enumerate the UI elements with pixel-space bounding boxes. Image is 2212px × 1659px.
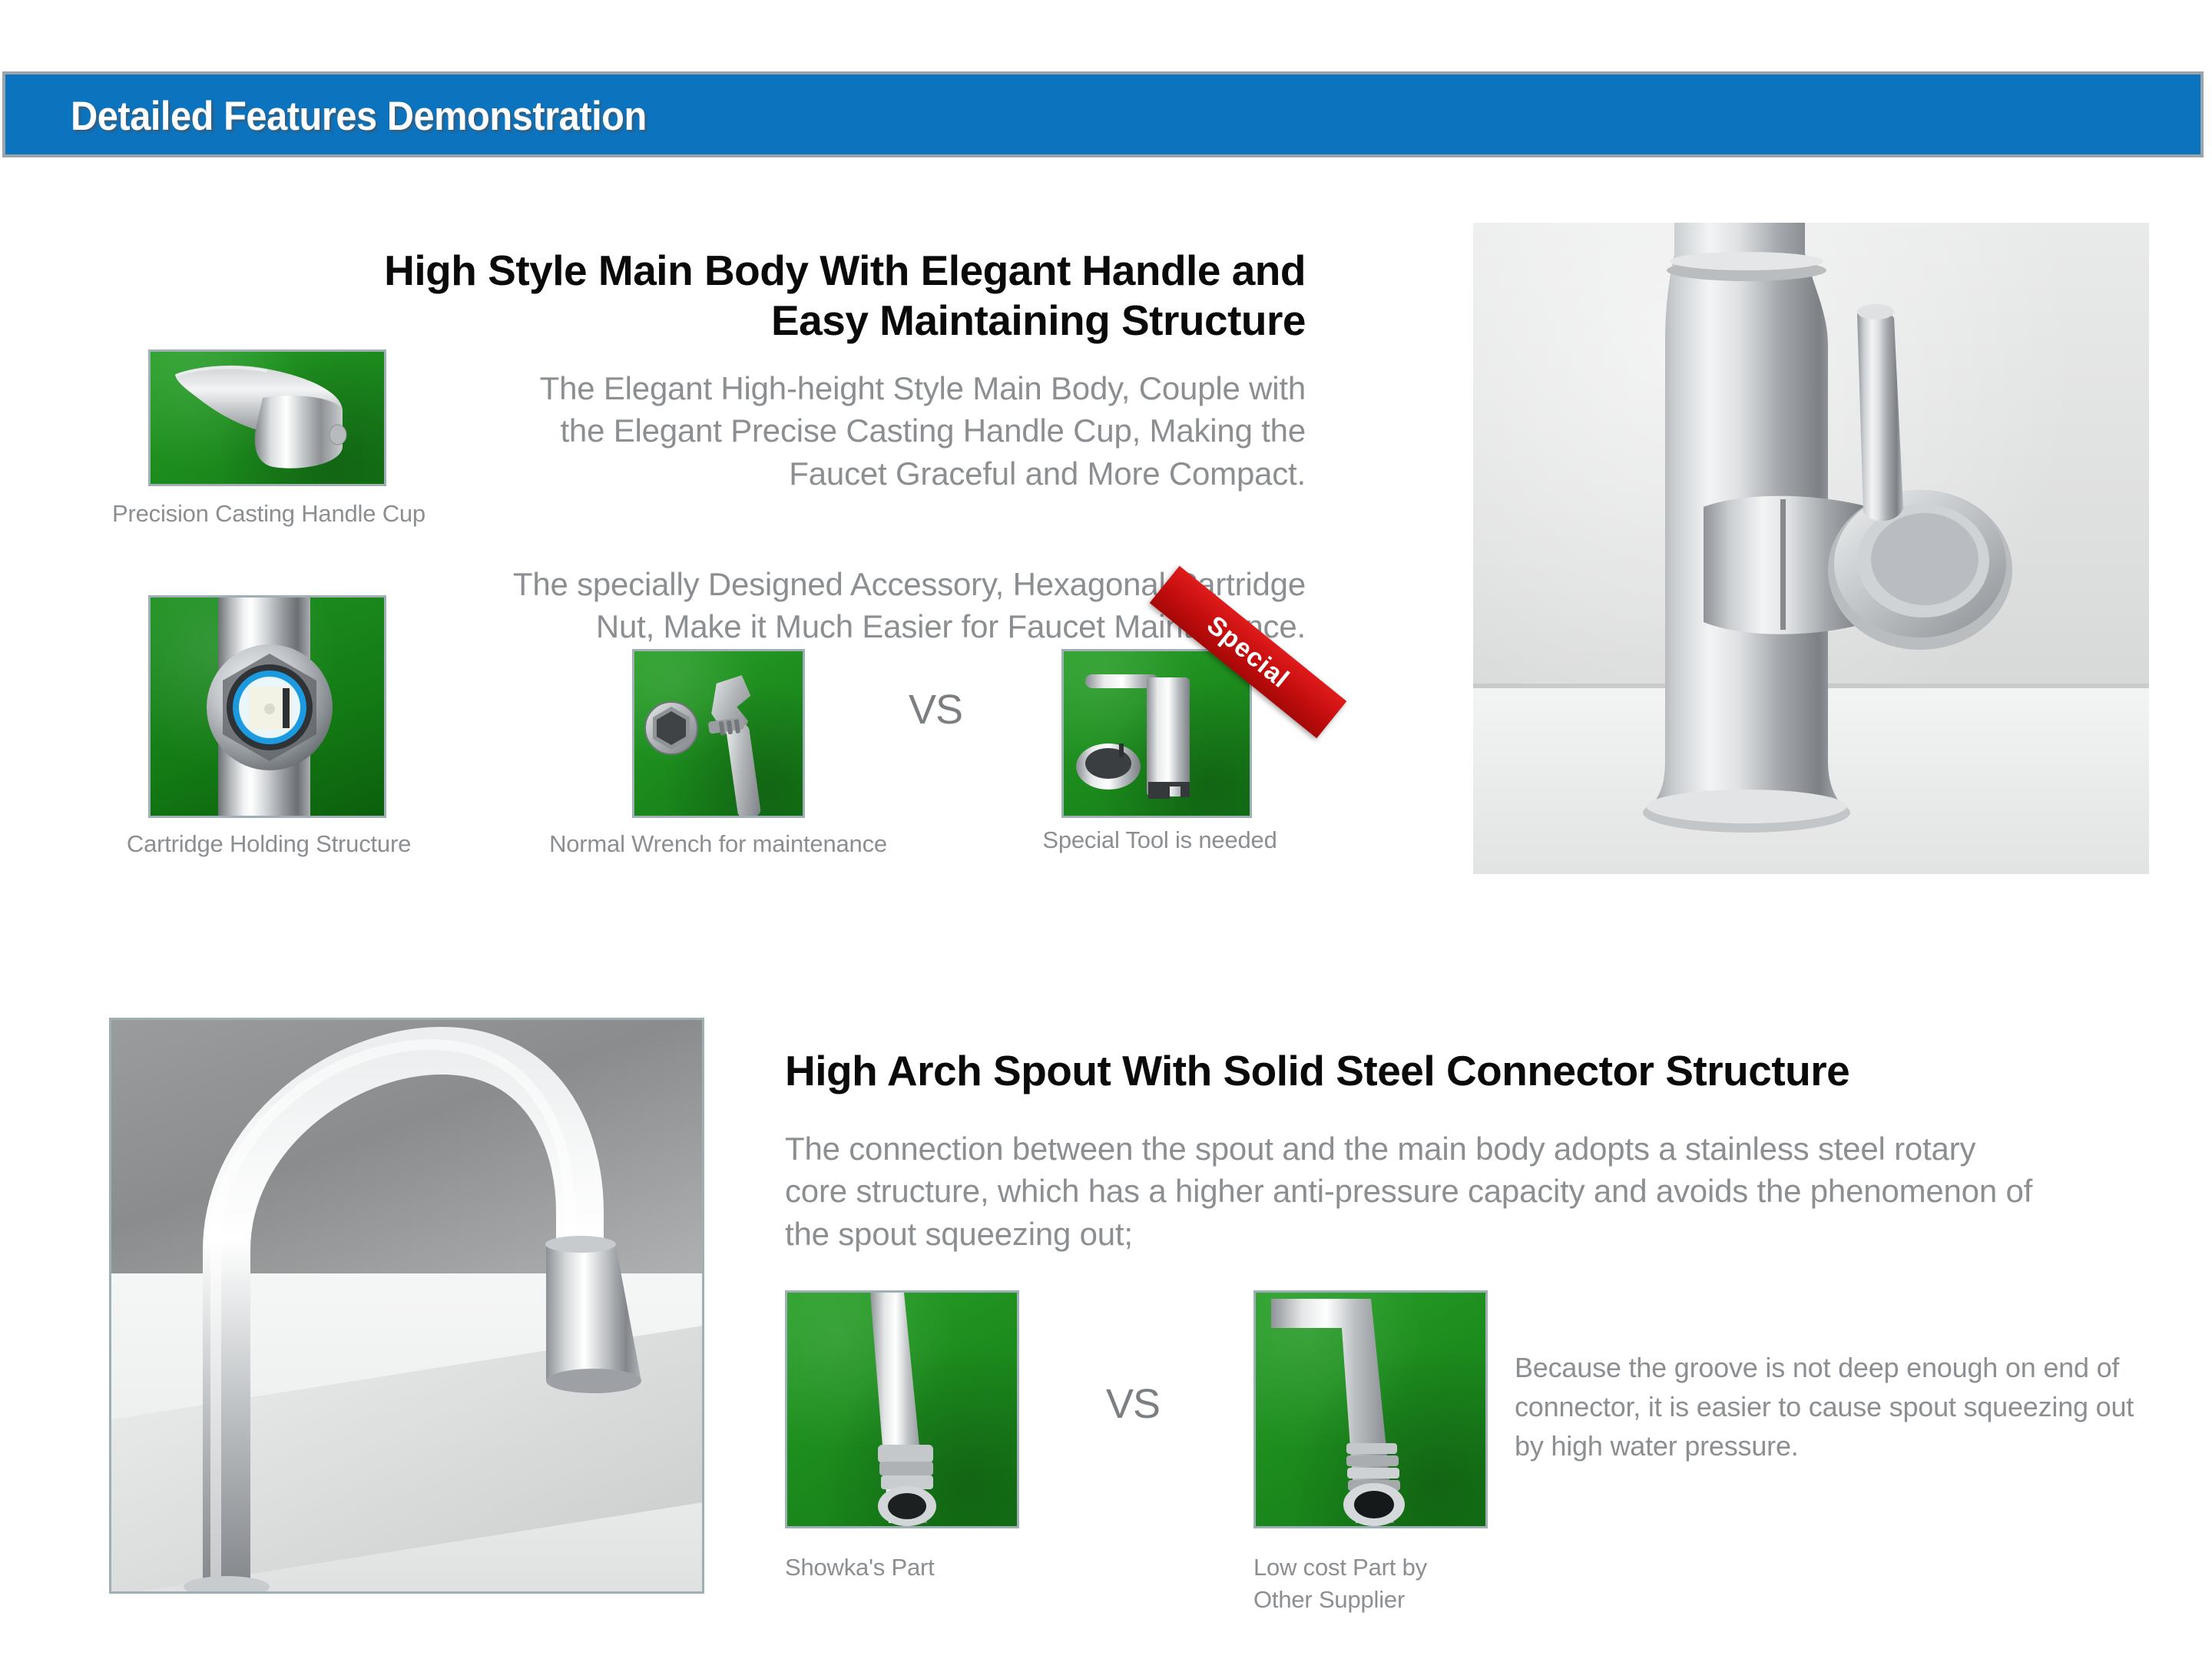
section-two-note: Because the groove is not deep enough on… [1515, 1348, 2160, 1465]
photo-normal-wrench [632, 649, 805, 818]
section-two-heading: High Arch Spout With Solid Steel Connect… [785, 1046, 2091, 1096]
connector-end [878, 1445, 936, 1526]
caption-low-cost-part: Low cost Part by Other Supplier [1253, 1551, 1488, 1616]
handle-cup-illustration [151, 352, 386, 486]
photo-precision-casting-handle-cup [148, 349, 386, 486]
section-one-heading-line2: Easy Maintaining Structure [292, 296, 1306, 346]
section-one-paragraph-1: The Elegant High-height Style Main Body,… [492, 367, 1306, 495]
caption-showka-part: Showka's Part [785, 1551, 1019, 1584]
page-title: Detailed Features Demonstration [71, 93, 647, 140]
caption-precision-casting-handle-cup: Precision Casting Handle Cup [77, 498, 461, 530]
caption-low-cost-part-line1: Low cost Part by [1253, 1551, 1488, 1584]
caption-low-cost-part-line2: Other Supplier [1253, 1584, 1488, 1616]
photo-cartridge-holding-structure [148, 595, 386, 818]
arch-spout-illustration [111, 1020, 704, 1594]
caption-special-tool: Special Tool is needed [983, 824, 1336, 856]
photo-special-tool [1061, 649, 1252, 818]
vs-label-section-two: VS [1106, 1380, 1160, 1428]
low-cost-connector-illustration [1256, 1293, 1488, 1528]
photo-high-arch-spout [109, 1018, 704, 1594]
special-tool-illustration [1064, 651, 1252, 818]
hex-nut [645, 702, 697, 754]
showka-connector-illustration [787, 1293, 1019, 1528]
ring-part [1076, 743, 1141, 790]
hexagonal-cartridge-nut-illustration [151, 598, 386, 818]
adjustable-wrench [702, 674, 767, 818]
faucet-body-illustration [1473, 223, 2149, 874]
slide-root: Detailed Features Demonstration High Sty… [0, 0, 2212, 1659]
photo-faucet-main-body [1473, 223, 2149, 874]
section-header-bar: Detailed Features Demonstration [2, 71, 2204, 157]
vs-label-section-one: VS [909, 686, 962, 733]
wrench-and-nut-illustration [634, 651, 805, 818]
photo-low-cost-connector-part [1253, 1290, 1488, 1528]
section-two-paragraph: The connection between the spout and the… [785, 1128, 2045, 1255]
caption-normal-wrench: Normal Wrench for maintenance [530, 828, 906, 860]
section-one-heading: High Style Main Body With Elegant Handle… [292, 246, 1306, 346]
photo-showka-connector-part [785, 1290, 1019, 1528]
caption-cartridge-holding-structure: Cartridge Holding Structure [77, 828, 461, 860]
connector-end-shallow-groove [1343, 1443, 1405, 1526]
section-one-heading-line1: High Style Main Body With Elegant Handle… [292, 246, 1306, 296]
